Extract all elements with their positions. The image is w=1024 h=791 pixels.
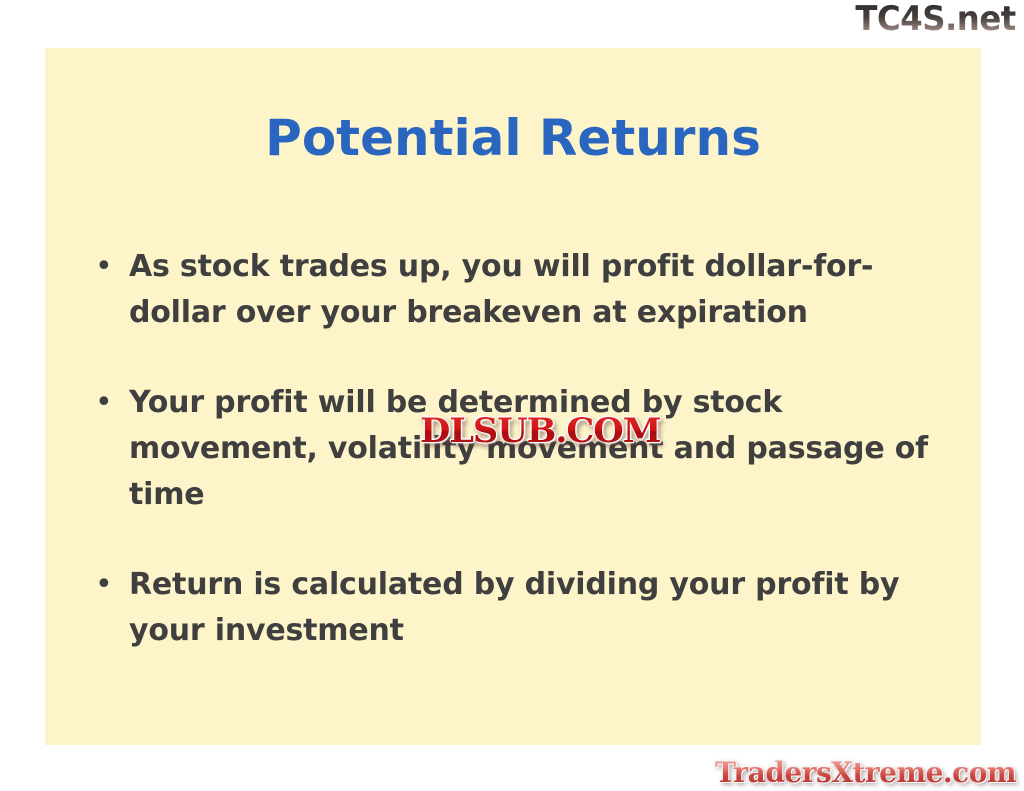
bullet-point-icon: • [95, 562, 129, 608]
list-item: • As stock trades up, you will profit do… [95, 244, 945, 336]
site-brand-logo: TC4S.net [856, 2, 1016, 36]
bullet-point-icon: • [95, 244, 129, 290]
bullet-text: As stock trades up, you will profit doll… [129, 244, 929, 336]
page-title: Potential Returns [45, 112, 981, 165]
footer-brand-logo: TradersXtreme.com [715, 759, 1016, 787]
bullet-point-icon: • [95, 380, 129, 426]
list-item: • Return is calculated by dividing your … [95, 562, 945, 654]
slide-panel: Potential Returns • As stock trades up, … [45, 48, 981, 745]
dlsub-watermark: DLSUB.COM [420, 411, 660, 451]
bullet-text: Return is calculated by dividing your pr… [129, 562, 929, 654]
